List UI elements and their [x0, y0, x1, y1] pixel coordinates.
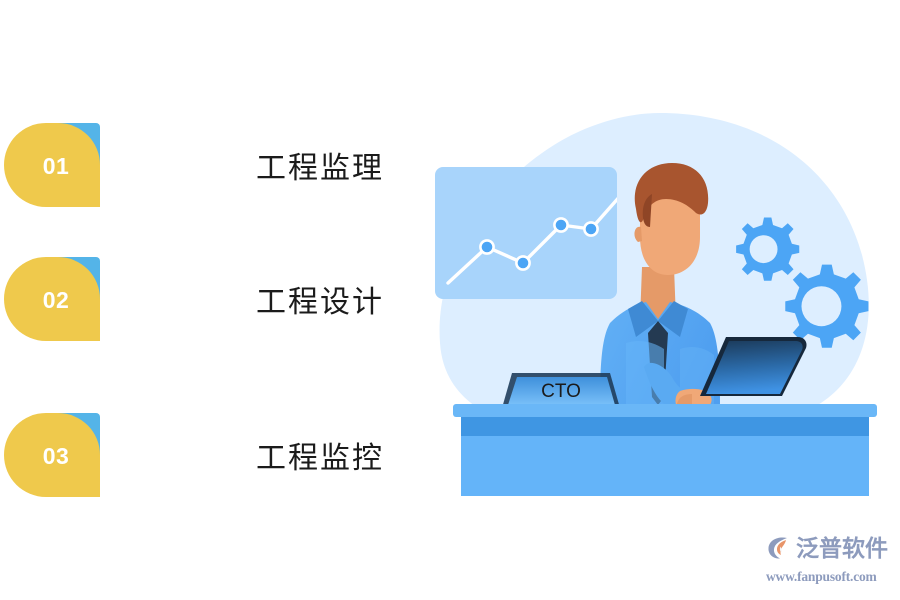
step-badge: 02 — [4, 257, 100, 341]
gear-large-icon — [785, 265, 868, 348]
fanpu-leaf-logo-icon — [765, 533, 793, 566]
wall-chart-screen — [435, 167, 621, 299]
nameplate: CTO — [502, 373, 620, 408]
step-badge: 01 — [4, 123, 100, 207]
step-number: 03 — [4, 413, 100, 497]
desk — [453, 404, 877, 496]
list-item-label: 工程设计 — [256, 277, 384, 321]
cto-at-desk-illustration: CTO — [430, 105, 900, 510]
watermark-company: 泛普软件 — [796, 538, 888, 561]
step-badge: 03 — [4, 413, 100, 497]
step-number: 01 — [4, 123, 100, 207]
nameplate-label: CTO — [541, 381, 581, 402]
list-item-label: 工程监控 — [256, 433, 384, 477]
list-item-label: 工程监理 — [256, 143, 384, 187]
slide-canvas: 01 工程监理 02 工程设计 03 工程监控 — [0, 0, 900, 600]
watermark-url: www.fanpusoft.com — [766, 569, 895, 585]
step-number: 02 — [4, 257, 100, 341]
gear-small-icon — [736, 218, 799, 281]
watermark: 泛普软件 www.fanpusoft.com — [765, 533, 895, 593]
